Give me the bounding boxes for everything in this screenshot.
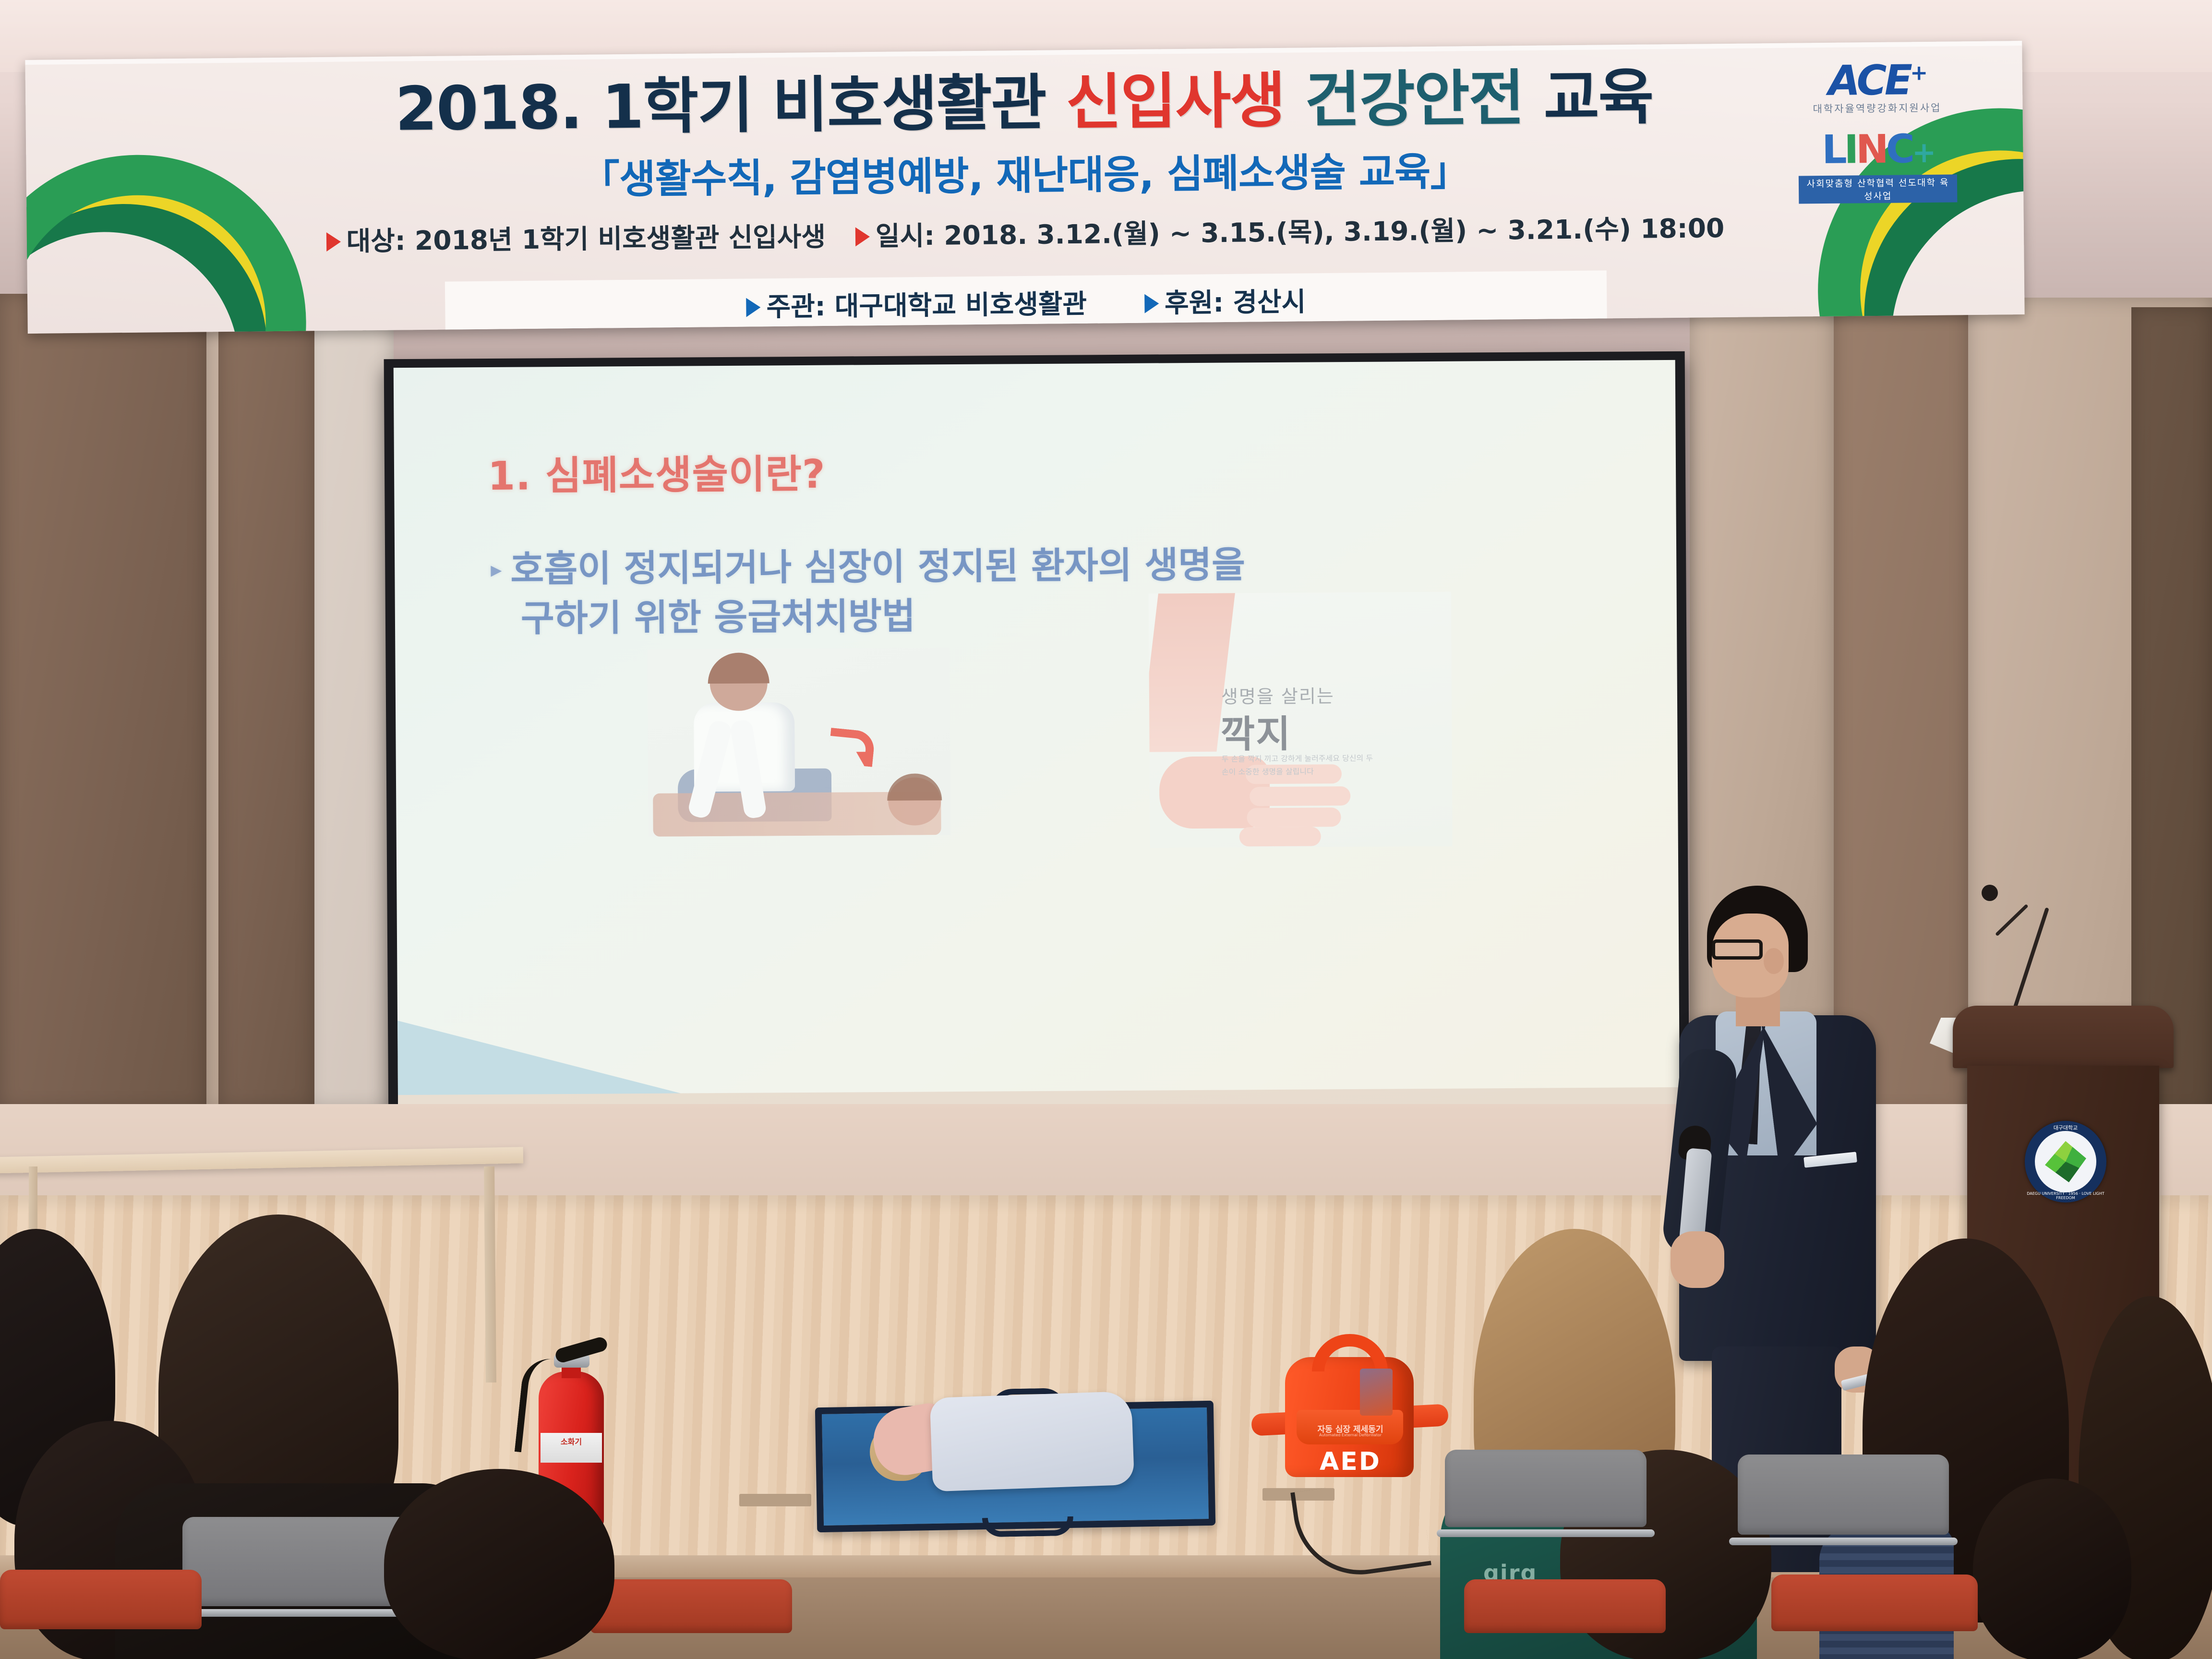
- banner-title: 2018. 1학기 비호생활관 신입사생 건강안전 교육: [25, 61, 2023, 145]
- aed-bag-handle: [1312, 1334, 1388, 1371]
- linc-plus: +: [1912, 136, 1934, 169]
- bullet-arrow-icon: ▸: [491, 556, 502, 582]
- slide-image-hands-poster: 생명을 살리는 깍지 두 손을 깍지 끼고 강하게 눌러주세요 당신의 두 손이…: [1149, 592, 1453, 848]
- ace-logo-plus: +: [1910, 60, 1925, 85]
- cpr-rescuer-hair: [708, 652, 769, 684]
- banner-logo-group: ACE+ 대학자율역량강화지원사업 LINC+ 사회맞춤형 산학협력 선도대학 …: [1797, 56, 1957, 204]
- chair-backrest: [590, 1579, 792, 1633]
- linc-logo-korean: 사회맞춤형 산학협력 선도대학 육성사업: [1799, 174, 1958, 204]
- mat-handle-bottom: [982, 1516, 1074, 1537]
- emblem-inner-disc: [2035, 1131, 2096, 1192]
- slide-heading: 1. 심폐소생술이란?: [488, 442, 826, 501]
- triangle-bullet-icon: [326, 232, 340, 252]
- banner-target: 대상: 2018년 1학기 비호생활관 신입사생: [326, 215, 826, 258]
- audience-head: [1973, 1479, 2131, 1659]
- linc-letter-l: L: [1822, 127, 1844, 173]
- chair-rail: [1729, 1538, 1957, 1545]
- linc-letter-n: N: [1856, 127, 1887, 173]
- banner-title-end: 교육: [1543, 61, 1653, 133]
- lecture-hall-photo: 2018. 1학기 비호생활관 신입사생 건강안전 교육 「생활수칙, 감염병예…: [0, 0, 2212, 1659]
- banner-date: 일시: 2018. 3.12.(월) ~ 3.15.(목), 3.19.(월) …: [855, 206, 1725, 253]
- presenter-hand-holding-mic: [1671, 1231, 1724, 1288]
- emblem-english-text: DAEGU UNIVERSITY · 1956 · LOVE LIGHT FRE…: [2025, 1191, 2106, 1200]
- slide-bullet-line2: 구하기 위한 응급처치방법: [521, 591, 916, 643]
- chair-backrest: [1738, 1455, 1949, 1535]
- floor-vent-left: [739, 1494, 811, 1506]
- chair-backrest: [0, 1570, 202, 1629]
- podium-top: [1953, 1006, 2174, 1068]
- daegu-university-emblem: 대구대학교 DAEGU UNIVERSITY · 1956 · LOVE LIG…: [2025, 1121, 2106, 1202]
- ace-logo-text: ACE: [1828, 56, 1911, 105]
- extinguisher-label: 소화기: [541, 1433, 602, 1463]
- aed-bag-sub-label: Automated External Defibrillator: [1298, 1433, 1403, 1437]
- poster-caption-big: 깍지: [1220, 704, 1291, 758]
- audience-chair: [590, 1579, 792, 1659]
- projection-screen-frame: 1. 심폐소생술이란? ▸호흡이 정지되거나 심장이 정지된 환자의 생명을 구…: [384, 351, 1690, 1209]
- audience-chair: [0, 1570, 202, 1659]
- presenter-ear: [1764, 948, 1784, 974]
- linc-letter-c: C: [1886, 126, 1912, 172]
- slide-bullet-line1: 호흡이 정지되거나 심장이 정지된 환자의 생명을: [510, 543, 1245, 590]
- emblem-korean-text: 대구대학교: [2025, 1124, 2106, 1131]
- wall-panel-mid: [218, 307, 314, 1109]
- linc-logo: LINC+: [1798, 126, 1957, 173]
- banner-date-text: 일시: 2018. 3.12.(월) ~ 3.15.(목), 3.19.(월) …: [876, 213, 1725, 252]
- wall-panel-far-right: [2131, 307, 2212, 1114]
- banner-target-text: 대상: 2018년 1학기 비호생활관 신입사생: [346, 221, 826, 257]
- chair-backrest: [1445, 1450, 1647, 1527]
- poster-finger-4: [1239, 827, 1321, 846]
- poster-caption-body: 두 손을 깍지 끼고 강하게 눌러주세요 당신의 두 손이 소중한 생명을 살립…: [1222, 752, 1380, 779]
- wall-panel-center-left: [307, 312, 394, 1109]
- poster-finger-2: [1250, 786, 1350, 806]
- linc-letter-i: I: [1844, 127, 1856, 172]
- audience-chair: [1738, 1455, 1949, 1584]
- manikin-torso: [930, 1391, 1135, 1492]
- audience-chair: [1464, 1579, 1666, 1659]
- ace-logo-korean: 대학자율역량강화지원사업: [1798, 100, 1956, 116]
- audience-chair: [1445, 1450, 1647, 1575]
- poster-finger-3: [1247, 807, 1341, 827]
- chair-backrest: [1771, 1575, 1978, 1631]
- side-table-leg-right: [484, 1166, 496, 1382]
- banner-title-highlight: 신입사생: [1066, 65, 1285, 138]
- chair-backrest: [1464, 1579, 1666, 1633]
- extinguisher-label-text: 소화기: [541, 1433, 602, 1447]
- audience-chair: [1771, 1575, 1978, 1659]
- projection-screen: 1. 심폐소생술이란? ▸호흡이 정지되거나 심장이 정지된 환자의 생명을 구…: [394, 360, 1681, 1198]
- banner-subtitle: 「생활수칙, 감염병예방, 재난대응, 심폐소생술 교육」: [26, 134, 2023, 210]
- emblem-leaf-mark-icon: [2045, 1141, 2086, 1182]
- slide-image-cpr-demo: [647, 648, 950, 837]
- presenter-eyeglasses-icon: [1712, 939, 1763, 960]
- aed-window: [1360, 1369, 1393, 1416]
- banner-content: 2018. 1학기 비호생활관 신입사생 건강안전 교육 「생활수칙, 감염병예…: [25, 41, 2024, 334]
- ace-logo: ACE+: [1797, 56, 1956, 105]
- podium-microphone-head-icon: [1982, 885, 1998, 901]
- aed-bag: 자동 심장 제세동기 Automated External Defibrilla…: [1260, 1332, 1440, 1491]
- banner-info-row: 대상: 2018년 1학기 비호생활관 신입사생 일시: 2018. 3.12.…: [27, 204, 2024, 261]
- wall-panel-left: [0, 294, 206, 1110]
- chair-rail: [1437, 1529, 1655, 1537]
- audience-head: [384, 1469, 614, 1659]
- aed-bag-main-label: AED: [1298, 1447, 1403, 1476]
- event-banner: 2018. 1학기 비호생활관 신입사생 건강안전 교육 「생활수칙, 감염병예…: [25, 41, 2024, 334]
- banner-title-post: 건강안전: [1284, 63, 1544, 136]
- compression-arrow-icon: [829, 730, 877, 764]
- banner-title-pre: 2018. 1학기 비호생활관: [395, 67, 1067, 144]
- cpr-victim-hair: [887, 773, 942, 801]
- triangle-bullet-icon: [855, 227, 870, 246]
